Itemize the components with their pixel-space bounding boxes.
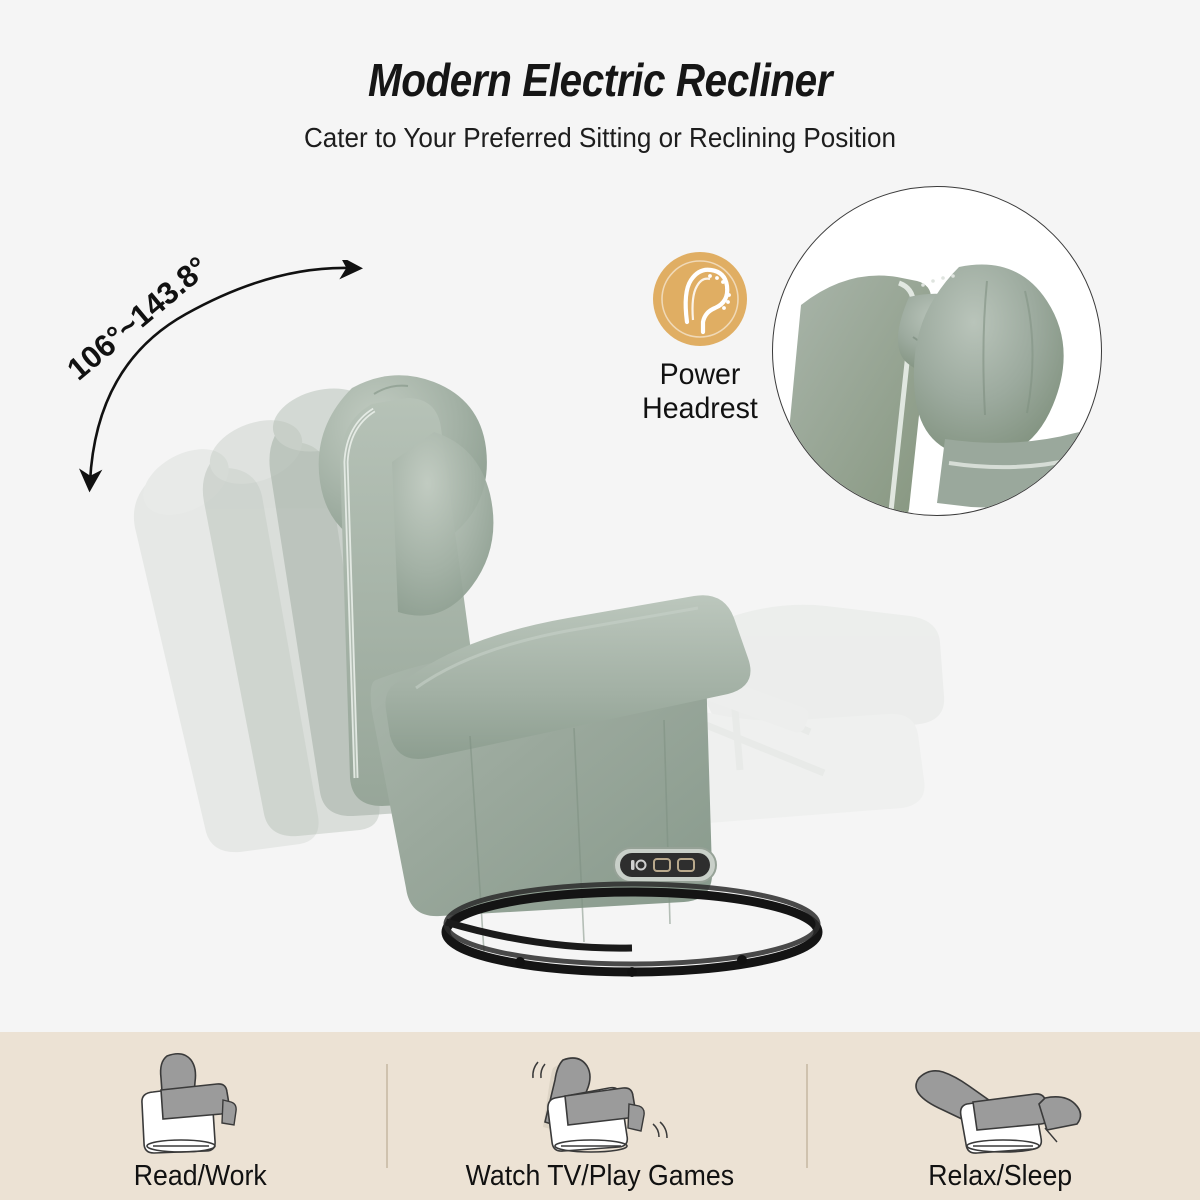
chair-upright-icon [105,1046,295,1154]
feature-divider-2 [806,1064,808,1168]
power-headrest-feature: Power Headrest [607,252,793,425]
feature-relax-sleep: Relax/Sleep [800,1032,1200,1200]
page-title: Modern Electric Recliner [72,56,1128,104]
headrest-closeup-photo [773,187,1102,516]
infographic-canvas: Modern Electric Recliner Cater to Your P… [0,0,1200,1200]
recliner-control-panel[interactable] [614,848,716,882]
power-headrest-caption: Power Headrest [612,358,789,425]
feature-read-work: Read/Work [0,1032,400,1200]
angle-annotation: 106°~143.8° [60,260,400,510]
headrest-icon [653,252,747,346]
feature-divider-1 [386,1064,388,1168]
headrest-closeup-inset [772,186,1102,516]
page-subtitle: Cater to Your Preferred Sitting or Recli… [42,122,1158,154]
header: Modern Electric Recliner Cater to Your P… [0,0,1200,154]
hero-section: 106°~143.8° [0,180,1200,1030]
use-case-bar: Read/Work [0,1032,1200,1200]
curved-double-arrow-icon [60,260,400,510]
chair-flat-icon [905,1046,1095,1154]
caption-line-2: Headrest [642,392,758,425]
feature-label-watch-tv: Watch TV/Play Games [466,1160,734,1193]
feature-label-read-work: Read/Work [134,1160,267,1193]
chair-reclined-icon [505,1046,695,1154]
caption-line-1: Power [660,358,741,391]
feature-label-relax-sleep: Relax/Sleep [928,1160,1072,1193]
feature-watch-tv: Watch TV/Play Games [400,1032,800,1200]
